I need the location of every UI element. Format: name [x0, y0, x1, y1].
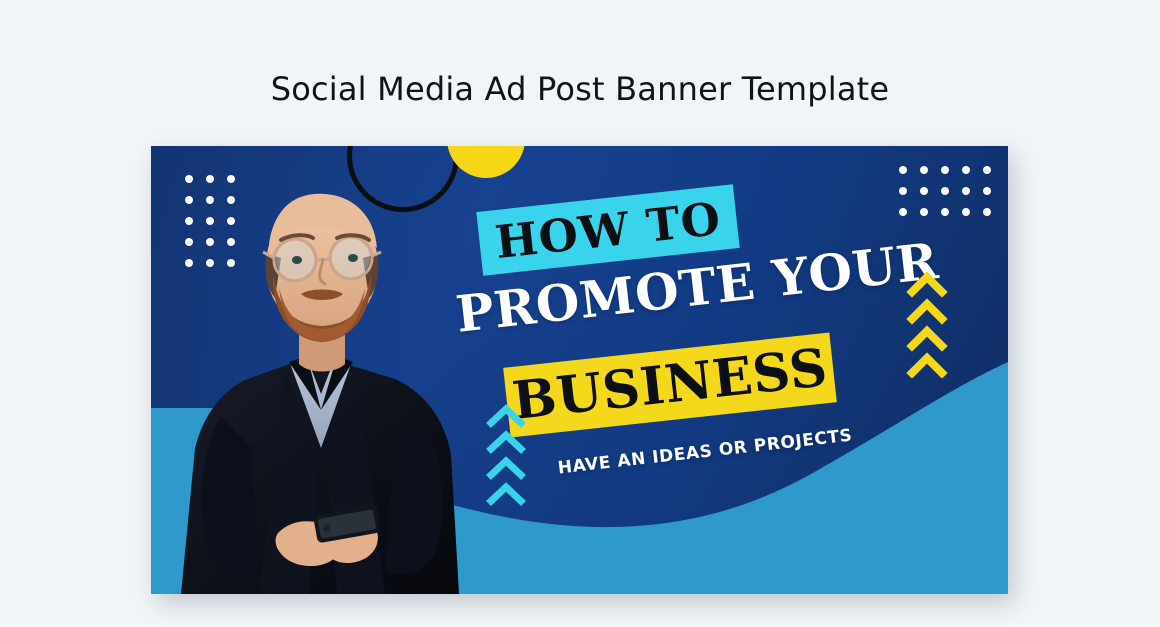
business-band: BUSINESS — [503, 332, 837, 437]
chevron-stack-left-icon — [484, 402, 528, 506]
headline-line-3: BUSINESS — [510, 342, 830, 428]
headline-line-1: HOW TO — [493, 195, 723, 264]
headline-subtitle: HAVE AN IDEAS OR PROJECTS — [557, 426, 854, 479]
banner-template-preview[interactable]: HOW TO PROMOTE YOUR BUSINESS HAVE AN IDE… — [151, 146, 1008, 594]
dot-grid-right — [899, 166, 991, 216]
chevron-stack-right-icon — [904, 270, 950, 378]
page-title: Social Media Ad Post Banner Template — [0, 70, 1160, 108]
headline-group: HOW TO PROMOTE YOUR BUSINESS HAVE AN IDE… — [469, 198, 889, 528]
businessman-photo — [159, 148, 489, 594]
